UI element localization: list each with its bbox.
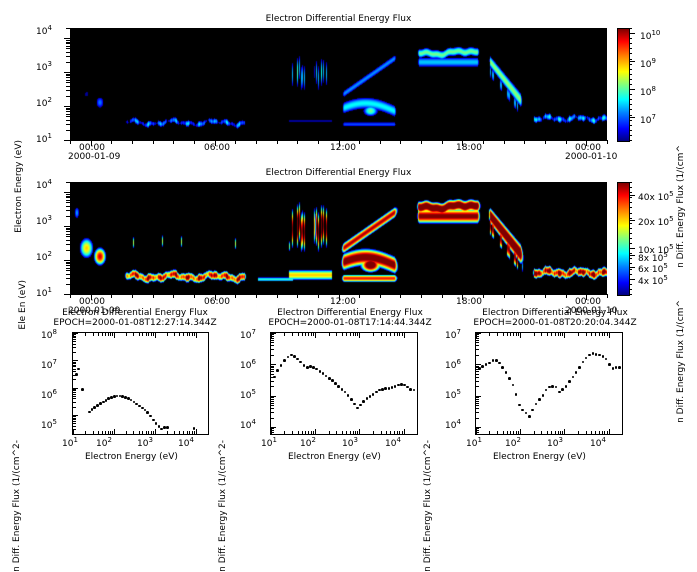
x-minor-tick [153,333,154,336]
x-minor-tick [558,431,559,434]
data-point [341,388,344,391]
x-minor-tick [292,333,293,336]
x-minor-tick [390,431,391,434]
x-minor-tick [189,333,190,336]
mid-ytick-10e1: 101 [36,286,52,299]
y-minor-tick [73,421,76,422]
x-minor-tick [308,333,309,336]
data-point [344,391,347,394]
data-point [525,412,528,415]
spec-y-tick [66,74,70,75]
y-minor-tick [476,403,479,404]
y-minor-tick [271,336,274,337]
x-minor-tick [564,429,565,434]
spectrum-1-ylabel: n Diff. Energy Flux (1/(cm^2- [12,440,22,572]
y-minor-tick [271,377,274,378]
colorbar-minor-tick [629,233,632,234]
data-point [592,352,595,355]
y-minor-tick [73,341,76,342]
top-ytick-10e1: 101 [36,132,52,145]
x-minor-tick [578,333,579,336]
data-point [303,364,306,367]
colorbar-minor-tick [629,258,632,259]
x-minor-tick [311,333,312,336]
data-point [598,354,601,357]
colorbar-minor-tick [629,279,632,280]
spec-y-tick [66,278,70,279]
colorbar-minor-tick [629,289,632,290]
top-ytick-10e2: 102 [36,96,52,109]
y-minor-tick [73,426,76,427]
x-minor-tick [394,431,395,434]
x-minor-tick [148,333,149,336]
x-minor-tick [513,431,514,434]
y-minor-tick [73,402,76,403]
mid-cbar-tick-0: 40x 105 [638,190,674,203]
spectrum-3-ytick-2: 105 [445,388,461,401]
x-minor-tick [595,431,596,434]
x-minor-tick [292,431,293,434]
y-minor-tick [73,407,76,408]
y-minor-tick [271,405,274,406]
y-minor-tick [476,434,479,435]
x-minor-tick [139,431,140,434]
y-minor-tick [271,401,274,402]
y-minor-tick [73,394,76,395]
x-minor-tick [404,429,405,434]
spec-y-tick [66,40,70,41]
x-minor-tick [399,431,400,434]
y-minor-tick [476,336,479,337]
spec-y-tick [66,210,70,211]
x-minor-tick [551,431,552,434]
x-minor-tick [560,333,561,336]
x-minor-tick [599,333,600,336]
colorbar-minor-tick [629,79,632,80]
spec-y-tick [66,86,70,87]
spec-y-tick [66,108,70,109]
data-point [155,422,158,425]
y-minor-tick [271,369,274,370]
y-minor-tick [271,334,274,335]
x-minor-tick [381,333,382,336]
x-minor-tick [399,333,400,336]
top-ytick-10e4: 104 [36,24,52,37]
y-minor-tick [271,342,274,343]
x-minor-tick [189,431,190,434]
data-point [149,415,152,418]
colorbar-tick [629,267,635,268]
y-minor-tick [271,366,274,367]
x-minor-tick [397,431,398,434]
y-minor-tick [476,342,479,343]
data-point [558,391,561,394]
spec-y-tick [66,265,70,266]
y-minor-tick [476,399,479,400]
x-minor-tick [586,333,587,336]
y-minor-tick [476,333,481,334]
y-minor-tick [476,366,479,367]
y-minor-tick [476,428,479,429]
spec-x-axis-line [70,294,607,295]
top-xtick-3: 18:00 [456,143,482,153]
y-minor-tick [271,364,276,365]
spec-x-tick [607,294,608,298]
x-minor-tick [346,431,347,434]
x-minor-tick [315,429,316,434]
x-minor-tick [329,431,330,434]
x-minor-tick [183,431,184,434]
top-panel-ylabel: Electron Energy (eV) [14,140,24,233]
x-minor-tick [305,431,306,434]
x-minor-tick [520,429,521,434]
x-minor-tick [336,431,337,434]
x-minor-tick [298,431,299,434]
spectrum-3-title: Electron Differential Energy Flux [455,308,655,318]
y-minor-tick [73,415,78,416]
x-minor-tick [208,431,209,434]
spec-y-tick [66,90,70,91]
colorbar-minor-tick [629,284,632,285]
mid-colorbar-label: n Diff. Energy Flux (1/(cm^ [676,300,686,423]
x-minor-tick [105,333,106,336]
colorbar-minor-tick [629,94,632,95]
spec-y-tick [66,75,70,76]
x-minor-tick [342,333,343,336]
y-minor-tick [271,403,274,404]
colorbar-tick [629,255,635,256]
y-minor-tick [271,432,274,433]
colorbar-minor-tick [629,89,632,90]
spectrum-2-ytick-1: 106 [240,358,256,371]
data-point [280,364,283,367]
y-minor-tick [271,428,274,429]
x-minor-tick [402,431,403,434]
x-minor-tick [346,333,347,336]
y-minor-tick [73,337,76,338]
spec-x-axis-line [70,140,607,141]
data-point [615,366,618,369]
spec-y-tick [66,80,70,81]
spectrum-1-plot [72,332,209,435]
colorbar-minor-tick [629,218,632,219]
spec-y-tick [66,262,70,263]
data-point [488,362,491,365]
y-minor-tick [476,430,479,431]
x-minor-tick [604,431,605,434]
data-point [81,388,84,391]
y-minor-tick [73,362,76,363]
spec-y-tick [66,206,70,207]
spectrum-2-xtick-1: 102 [300,436,316,449]
colorbar-minor-tick [629,228,632,229]
x-minor-tick [308,431,309,434]
colorbar-tick [629,117,635,118]
data-point [409,388,412,391]
mid-xtick-2: 12:00 [330,297,356,307]
data-point [508,377,511,380]
y-minor-tick [73,396,76,397]
x-minor-tick [342,431,343,434]
x-minor-tick [591,333,592,336]
x-minor-tick [555,431,556,434]
data-point [498,362,501,365]
x-minor-tick [114,429,115,434]
x-minor-tick [98,431,99,434]
data-point [369,395,372,398]
spectrum-2-subtitle: EPOCH=2000-01-08T17:14:44.344Z [255,318,445,328]
data-point [608,363,611,366]
x-minor-tick [586,431,587,434]
data-point [319,370,322,373]
y-minor-tick [73,334,76,335]
x-minor-tick [503,333,504,336]
data-point [588,354,591,357]
x-minor-tick [497,333,498,336]
x-minor-tick [167,333,168,336]
colorbar-minor-tick [629,207,632,208]
x-minor-tick [558,333,559,336]
mid-cbar-tick-5: 4x 105 [638,274,668,287]
x-minor-tick [313,333,314,336]
x-minor-tick [108,333,109,336]
figure-canvas: Electron Differential Energy Flux Electr… [0,0,697,492]
x-minor-tick [381,431,382,434]
spectrum-1-xlabel: Electron Energy (eV) [85,452,178,462]
spectrum-2-ytick-0: 107 [240,328,256,341]
spec-y-tick [66,48,70,49]
top-ytick-10e3: 103 [36,60,52,73]
x-minor-tick [196,333,197,338]
top-xdate-right: 2000-01-10 [565,152,617,162]
spec-y-tick [64,192,70,193]
x-minor-tick [155,333,156,338]
x-minor-tick [359,333,360,338]
y-minor-tick [271,355,274,356]
y-minor-tick [73,379,76,380]
spectrum-3-subtitle: EPOCH=2000-01-08T20:20:04.344Z [455,318,655,328]
x-minor-tick [622,333,623,336]
y-minor-tick [476,374,479,375]
x-minor-tick [507,333,508,336]
x-minor-tick [555,333,556,336]
x-minor-tick [155,429,156,434]
spec-y-tick [64,106,70,107]
spec-y-tick [66,200,70,201]
top-cbar-tick-0: 1010 [640,29,660,42]
colorbar-tick [629,61,635,62]
y-minor-tick [73,392,76,393]
mid-ytick-10e4: 104 [36,178,52,191]
y-minor-tick [476,349,479,350]
spec-y-tick [66,62,70,63]
x-minor-tick [489,431,490,434]
x-minor-tick [183,333,184,336]
data-point [322,372,325,375]
colorbar-minor-tick [629,202,632,203]
spectrum-2-ylabel: n Diff. Energy Flux (1/(cm^2- [218,440,228,572]
data-point [413,389,416,392]
mid-panel-ylabel: Ele En (eV) [18,280,28,330]
spectrum-1-ytick-1: 107 [41,358,57,371]
colorbar-minor-tick [629,274,632,275]
x-minor-tick [112,333,113,336]
colorbar-minor-tick [629,130,632,131]
data-point [578,366,581,369]
mid-cbar-tick-1: 20x 105 [638,215,674,228]
x-minor-tick [313,431,314,434]
colorbar-minor-tick [629,99,632,100]
colorbar-minor-tick [629,269,632,270]
y-minor-tick [476,408,479,409]
x-minor-tick [133,333,134,336]
data-point [515,393,518,396]
spec-y-tick [66,268,70,269]
spectrum-1-ytick-3: 105 [41,418,57,431]
y-minor-tick [73,429,76,430]
top-xtick-2: 12:00 [330,143,356,153]
spectrum-1-ytick-0: 108 [41,328,57,341]
colorbar-minor-tick [629,59,632,60]
y-minor-tick [73,418,76,419]
data-point [77,368,80,371]
x-minor-tick [153,431,154,434]
x-minor-tick [112,431,113,434]
x-minor-tick [315,333,316,338]
x-minor-tick [607,431,608,434]
x-minor-tick [353,431,354,434]
spectrum-3-xtick-2: 103 [547,436,563,449]
data-point [555,386,558,389]
x-minor-tick [102,333,103,336]
x-minor-tick [302,333,303,336]
data-point [495,359,498,362]
colorbar-minor-tick [629,253,632,254]
data-point [531,409,534,412]
colorbar-minor-tick [629,120,632,121]
y-minor-tick [73,365,76,366]
y-minor-tick [73,434,76,435]
spec-y-tick [66,202,70,203]
top-colorbar-label: n Diff. Energy Flux (1/(cm^ [676,145,686,268]
x-minor-tick [503,431,504,434]
x-minor-tick [404,333,405,338]
y-minor-tick [73,388,78,389]
y-minor-tick [476,381,479,382]
y-minor-tick [271,371,274,372]
x-minor-tick [126,431,127,434]
data-point [296,358,299,361]
x-minor-tick [609,333,610,338]
data-point [568,380,571,383]
x-minor-tick [85,431,86,434]
y-minor-tick [271,412,274,413]
x-minor-tick [547,333,548,336]
mid-panel-title: Electron Differential Energy Flux [70,168,607,178]
colorbar-minor-tick [629,48,632,49]
x-minor-tick [386,333,387,336]
x-minor-tick [353,333,354,336]
spec-y-tick [64,226,70,227]
y-minor-tick [73,419,76,420]
spectrum-2-plot [270,332,418,435]
top-cbar-tick-2: 108 [640,85,656,98]
colorbar-minor-tick [629,53,632,54]
x-minor-tick [417,431,418,434]
spec-y-tick [66,196,70,197]
data-point [561,388,564,391]
top-panel-title: Electron Differential Energy Flux [70,14,607,24]
data-point [602,355,605,358]
spectrum-2-xtick-0: 101 [261,436,277,449]
colorbar-minor-tick [629,192,632,193]
x-minor-tick [534,333,535,336]
x-minor-tick [284,431,285,434]
data-point [612,367,615,370]
spec-y-tick [64,72,70,73]
x-minor-tick [518,333,519,336]
x-minor-tick [139,333,140,336]
data-point [512,384,515,387]
y-minor-tick [476,427,481,428]
spec-y-tick [66,116,70,117]
spec-y-tick [66,43,70,44]
y-minor-tick [476,340,479,341]
data-point [146,411,149,414]
spectrum-1-xtick-3: 104 [178,436,194,449]
x-minor-tick [133,431,134,434]
x-minor-tick [357,333,358,336]
data-point [287,356,290,359]
data-point [595,353,598,356]
x-minor-tick [179,431,180,434]
spectrum-1-ytick-2: 106 [41,388,57,401]
x-minor-tick [302,431,303,434]
data-point [353,403,356,406]
y-minor-tick [73,375,76,376]
x-minor-tick [373,431,374,434]
top-cbar-tick-3: 107 [640,113,656,126]
x-minor-tick [126,333,127,336]
data-point [535,403,538,406]
colorbar-minor-tick [629,135,632,136]
colorbar-minor-tick [629,223,632,224]
x-minor-tick [105,431,106,434]
top-spectrogram [70,28,607,140]
spectrum-2-ytick-3: 104 [240,418,256,431]
x-minor-tick [194,431,195,434]
mid-ytick-10e2: 102 [36,250,52,263]
y-minor-tick [271,338,274,339]
colorbar-minor-tick [629,182,632,183]
data-point [538,398,541,401]
data-point [585,357,588,360]
x-minor-tick [110,333,111,336]
data-point [356,407,359,410]
data-point [362,400,365,403]
x-minor-tick [534,431,535,434]
x-minor-tick [355,333,356,336]
spectrum-3-ytick-3: 104 [445,418,461,431]
x-minor-tick [609,429,610,434]
spec-y-tick [66,109,70,110]
y-minor-tick [271,349,274,350]
x-minor-tick [516,333,517,336]
x-minor-tick [602,333,603,336]
x-minor-tick [187,333,188,336]
y-minor-tick [271,408,274,409]
y-minor-tick [73,390,76,391]
